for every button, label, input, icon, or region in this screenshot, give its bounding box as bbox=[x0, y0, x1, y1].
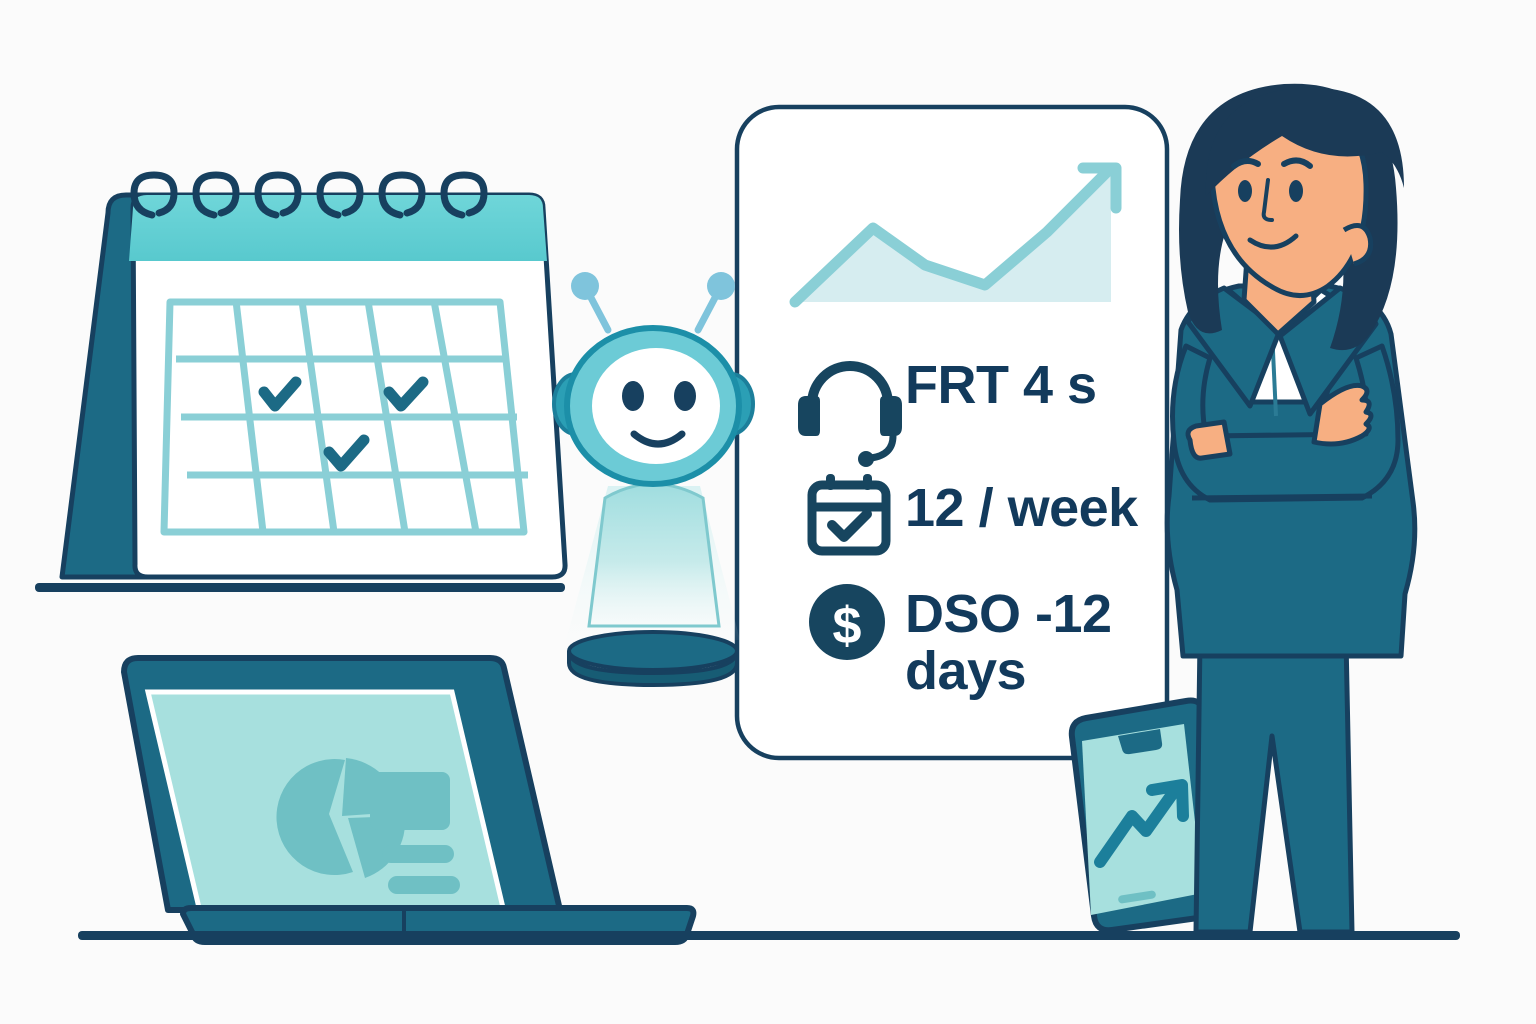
trousers bbox=[1196, 640, 1352, 932]
desk-calendar bbox=[35, 175, 565, 592]
text-bar-2 bbox=[388, 876, 460, 894]
calendar-ground-line bbox=[35, 583, 565, 592]
eye-left bbox=[1238, 180, 1252, 202]
text-bar-1 bbox=[382, 845, 454, 863]
svg-text:$: $ bbox=[833, 597, 862, 655]
floor-line bbox=[78, 931, 1460, 940]
metric-label-cadence: 12 / week bbox=[905, 480, 1138, 537]
metric-label-dso: DSO -12 days bbox=[905, 586, 1135, 700]
metric-row-dso: DSO -12 days bbox=[905, 586, 1135, 700]
businesswoman bbox=[1167, 84, 1415, 932]
illustration-canvas: $ bbox=[0, 0, 1536, 1024]
metric-row-frt: FRT 4 s bbox=[905, 357, 1097, 414]
eye-right bbox=[1289, 180, 1303, 202]
dollar-circle-icon: $ bbox=[809, 584, 885, 660]
hand-left bbox=[1188, 422, 1230, 458]
robot-antennae bbox=[571, 272, 735, 330]
arm-shadow bbox=[1192, 496, 1372, 498]
robot-eye-left bbox=[622, 381, 644, 411]
metric-label-frt: FRT 4 s bbox=[905, 357, 1097, 414]
laptop bbox=[124, 658, 693, 942]
projector-disc-top bbox=[569, 632, 737, 670]
hologram-robot bbox=[554, 272, 753, 685]
scene-graphic: $ bbox=[0, 0, 1536, 1024]
metric-row-cadence: 12 / week bbox=[905, 480, 1138, 537]
robot-body bbox=[589, 484, 719, 626]
content-block bbox=[370, 772, 450, 830]
robot-eye-right bbox=[674, 381, 696, 411]
